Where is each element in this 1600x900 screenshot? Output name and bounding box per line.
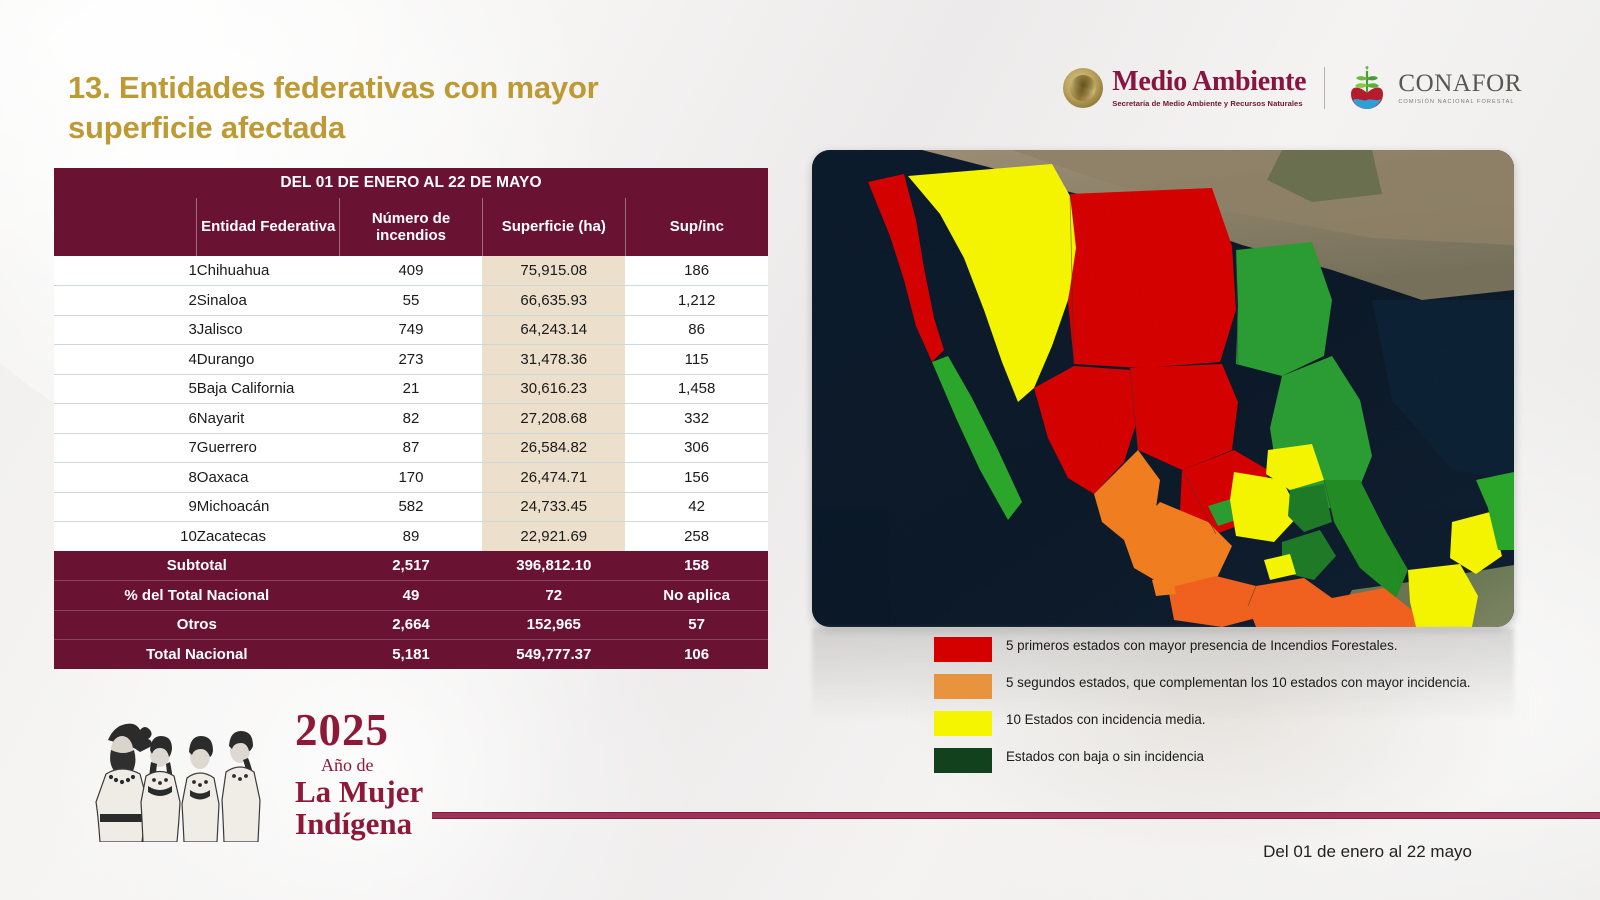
cell-rank: 5 (54, 374, 197, 404)
table-row: 8Oaxaca17026,474.71156 (54, 463, 768, 493)
agency-name: CONAFOR (1398, 71, 1522, 96)
cell-superficie: 75,915.08 (482, 256, 625, 286)
table-summary-row: % del Total Nacional4972No aplica (54, 581, 768, 611)
table-summary-row: Total Nacional5,181549,777.37106 (54, 640, 768, 670)
cell-supinc: 1,212 (625, 286, 768, 316)
summary-superficie: 549,777.37 (482, 640, 625, 670)
cell-entidad: Sinaloa (197, 286, 340, 316)
cell-incendios: 82 (340, 404, 483, 434)
cell-superficie: 64,243.14 (482, 315, 625, 345)
summary-incendios: 49 (340, 581, 483, 611)
summary-sup_inc: 158 (625, 551, 768, 581)
cell-supinc: 332 (625, 404, 768, 434)
column-header-rank (54, 198, 197, 256)
campaign-logo-2025: 2025 Año de La Mujer Indígena (88, 708, 423, 843)
cell-superficie: 31,478.36 (482, 345, 625, 375)
table-row: 7Guerrero8726,584.82306 (54, 433, 768, 463)
cell-superficie: 24,733.45 (482, 492, 625, 522)
cell-rank: 1 (54, 256, 197, 286)
cell-supinc: 306 (625, 433, 768, 463)
cell-incendios: 21 (340, 374, 483, 404)
cell-incendios: 409 (340, 256, 483, 286)
cell-supinc: 258 (625, 522, 768, 552)
table-row: 5Baja California2130,616.231,458 (54, 374, 768, 404)
cell-superficie: 26,474.71 (482, 463, 625, 493)
cell-entidad: Durango (197, 345, 340, 375)
campaign-line2: Indígena (295, 808, 423, 839)
cell-supinc: 115 (625, 345, 768, 375)
table-row: 9Michoacán58224,733.4542 (54, 492, 768, 522)
column-header-supinc: Sup/inc (625, 198, 768, 256)
cell-supinc: 186 (625, 256, 768, 286)
summary-incendios: 5,181 (340, 640, 483, 670)
cell-rank: 7 (54, 433, 197, 463)
legend-color-swatch (934, 637, 992, 662)
summary-label: Subtotal (54, 551, 340, 581)
cell-rank: 10 (54, 522, 197, 552)
cell-entidad: Chihuahua (197, 256, 340, 286)
legend-item: 5 segundos estados, que complementan los… (934, 673, 1494, 699)
cell-incendios: 87 (340, 433, 483, 463)
campaign-line1: La Mujer (295, 776, 423, 807)
cell-superficie: 22,921.69 (482, 522, 625, 552)
summary-sup_inc: 106 (625, 640, 768, 670)
table-row: 2Sinaloa5566,635.931,212 (54, 286, 768, 316)
mexico-incidence-map[interactable] (812, 150, 1514, 627)
column-header-superficie: Superficie (ha) (482, 198, 625, 256)
cell-superficie: 66,635.93 (482, 286, 625, 316)
legend-label: 5 primeros estados con mayor presencia d… (1006, 636, 1398, 654)
cell-superficie: 26,584.82 (482, 433, 625, 463)
ministry-subtitle: Secretaría de Medio Ambiente y Recursos … (1112, 100, 1306, 108)
summary-incendios: 2,664 (340, 610, 483, 640)
legend-item: 10 Estados con incidencia media. (934, 710, 1494, 736)
cell-supinc: 86 (625, 315, 768, 345)
page-title: 13. Entidades federativas con mayor supe… (68, 68, 708, 149)
table-banner: DEL 01 DE ENERO AL 22 DE MAYO (54, 168, 768, 198)
legend-label: Estados con baja o sin incidencia (1006, 747, 1204, 765)
cell-superficie: 30,616.23 (482, 374, 625, 404)
cell-entidad: Oaxaca (197, 463, 340, 493)
table-banner-row: DEL 01 DE ENERO AL 22 DE MAYO (54, 168, 768, 198)
table-row: 3Jalisco74964,243.1486 (54, 315, 768, 345)
ministry-name: Medio Ambiente (1112, 68, 1306, 96)
map-legend: 5 primeros estados con mayor presencia d… (934, 636, 1494, 784)
summary-superficie: 152,965 (482, 610, 625, 640)
cell-incendios: 170 (340, 463, 483, 493)
cell-incendios: 582 (340, 492, 483, 522)
legend-color-swatch (934, 748, 992, 773)
cell-superficie: 27,208.68 (482, 404, 625, 434)
indigenous-women-illustration-icon (88, 710, 283, 842)
legend-label: 5 segundos estados, que complementan los… (1006, 673, 1471, 691)
mexican-eagle-seal-icon (1063, 68, 1103, 108)
logo-divider (1324, 67, 1325, 109)
summary-sup_inc: No aplica (625, 581, 768, 611)
cell-entidad: Guerrero (197, 433, 340, 463)
summary-label: Otros (54, 610, 340, 640)
table-row: 4Durango27331,478.36115 (54, 345, 768, 375)
cell-entidad: Michoacán (197, 492, 340, 522)
campaign-ano: Año de (321, 756, 423, 774)
table-row: 6Nayarit8227,208.68332 (54, 404, 768, 434)
summary-label: Total Nacional (54, 640, 340, 670)
header-logos: Medio Ambiente Secretaría de Medio Ambie… (1063, 66, 1522, 110)
cell-entidad: Zacatecas (197, 522, 340, 552)
legend-label: 10 Estados con incidencia media. (1006, 710, 1206, 728)
table-row: 1Chihuahua40975,915.08186 (54, 256, 768, 286)
summary-superficie: 72 (482, 581, 625, 611)
cell-entidad: Jalisco (197, 315, 340, 345)
legend-color-swatch (934, 711, 992, 736)
summary-incendios: 2,517 (340, 551, 483, 581)
legend-item: Estados con baja o sin incidencia (934, 747, 1494, 773)
cell-incendios: 55 (340, 286, 483, 316)
cell-rank: 4 (54, 345, 197, 375)
map-graphic (812, 150, 1514, 627)
column-header-incendios: Número de incendios (340, 198, 483, 256)
affected-area-table: DEL 01 DE ENERO AL 22 DE MAYO Entidad Fe… (54, 168, 768, 669)
cell-rank: 3 (54, 315, 197, 345)
conafor-logo: CONAFOR COMISIÓN NACIONAL FORESTAL (1343, 66, 1522, 110)
medio-ambiente-logo: Medio Ambiente Secretaría de Medio Ambie… (1063, 68, 1306, 108)
column-header-entidad: Entidad Federativa (197, 198, 340, 256)
cell-supinc: 1,458 (625, 374, 768, 404)
table-row: 10Zacatecas8922,921.69258 (54, 522, 768, 552)
table-body: 1Chihuahua40975,915.081862Sinaloa5566,63… (54, 256, 768, 551)
cell-rank: 8 (54, 463, 197, 493)
cell-incendios: 89 (340, 522, 483, 552)
legend-color-swatch (934, 674, 992, 699)
table-summary-row: Subtotal2,517396,812.10158 (54, 551, 768, 581)
summary-label: % del Total Nacional (54, 581, 340, 611)
table-footer: Subtotal2,517396,812.10158% del Total Na… (54, 551, 768, 669)
campaign-year: 2025 (295, 708, 423, 753)
table-header-row: Entidad Federativa Número de incendios S… (54, 198, 768, 256)
agency-subtitle: COMISIÓN NACIONAL FORESTAL (1398, 100, 1522, 106)
summary-sup_inc: 57 (625, 610, 768, 640)
cell-supinc: 42 (625, 492, 768, 522)
conafor-tree-icon (1343, 66, 1391, 110)
cell-entidad: Baja California (197, 374, 340, 404)
cell-incendios: 273 (340, 345, 483, 375)
cell-incendios: 749 (340, 315, 483, 345)
cell-rank: 6 (54, 404, 197, 434)
footer-date-note: Del 01 de enero al 22 mayo (1263, 842, 1472, 862)
summary-superficie: 396,812.10 (482, 551, 625, 581)
cell-entidad: Nayarit (197, 404, 340, 434)
bottom-divider (432, 812, 1600, 819)
cell-supinc: 156 (625, 463, 768, 493)
cell-rank: 9 (54, 492, 197, 522)
legend-item: 5 primeros estados con mayor presencia d… (934, 636, 1494, 662)
cell-rank: 2 (54, 286, 197, 316)
table-summary-row: Otros2,664152,96557 (54, 610, 768, 640)
